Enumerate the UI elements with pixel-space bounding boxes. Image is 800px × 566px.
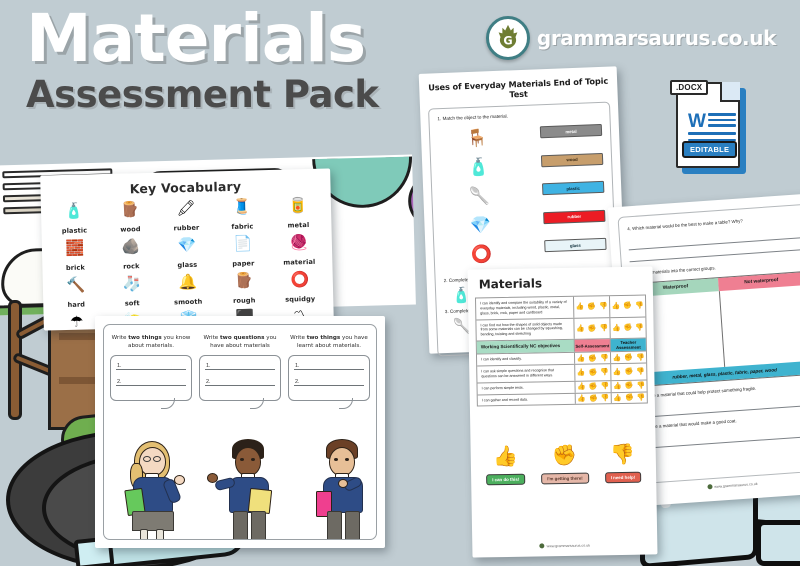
matching-objects-column: 🪑🧴🥄💎⭕: [438, 122, 522, 270]
kwl-answer-line[interactable]: 2.: [294, 379, 364, 386]
vocab-item-label: rubber: [174, 224, 200, 233]
vocab-item-label: soft: [125, 299, 140, 307]
thumbs-down-icon[interactable]: 👎: [637, 394, 646, 402]
assessment-grid-sheet[interactable]: Materials I can identify and compare the…: [468, 266, 658, 557]
key-vocabulary-sheet[interactable]: Key Vocabulary 🧴plastic🪵wood🖍rubber🧵fabr…: [40, 168, 334, 330]
thumbs-up-icon[interactable]: 👍: [577, 395, 586, 403]
objective-text: I can perform simple tests.: [477, 382, 575, 395]
kwl-answer-line[interactable]: 1.: [294, 363, 364, 370]
assess-title: Materials: [479, 275, 646, 292]
vocab-grid: 🧴plastic🪵wood🖍rubber🧵fabric🥫metal🧱brick🪨…: [47, 197, 329, 331]
objective-text: I can identify and classify.: [477, 353, 575, 366]
pupil-boy-right: [314, 439, 377, 539]
kwl-column: Write two things you know about material…: [110, 334, 192, 401]
eraser-icon: 🖍: [159, 199, 213, 217]
vocab-item-label: rough: [233, 296, 256, 305]
page-fold-icon: [720, 82, 740, 102]
glass-shard-icon[interactable]: 💎: [441, 209, 520, 241]
vocab-item: 🧶material: [272, 234, 327, 270]
pupil-illustrations: [104, 434, 376, 539]
material-tag-wood[interactable]: wood: [541, 152, 603, 166]
test-title: Uses of Everyday Materials End of Topic …: [427, 76, 610, 103]
fabric-roll-icon: 🧵: [215, 198, 269, 216]
kwl-answer-line[interactable]: 1.: [116, 363, 186, 370]
material-tag-rubber[interactable]: rubber: [543, 209, 605, 223]
fist-icon[interactable]: ✊: [589, 394, 598, 402]
thumbs-up-icon[interactable]: 👍: [577, 369, 586, 377]
rating-cell-self[interactable]: 👍✊👎: [574, 318, 610, 339]
header-objectives: Working Scientifically NC objectives: [477, 340, 575, 354]
thumbs-down-icon[interactable]: 👎: [636, 367, 645, 375]
thumbs-down-icon[interactable]: 👎: [600, 354, 609, 362]
rating-cell-teacher[interactable]: 👍✊👎: [610, 317, 645, 338]
svg-text:G: G: [503, 35, 512, 48]
thumbs-up-icon[interactable]: 👍: [576, 303, 585, 311]
tyre-icon[interactable]: ⭕: [442, 238, 521, 270]
vocab-item-label: glass: [177, 261, 197, 269]
vocab-item: 🧱brick: [48, 239, 103, 275]
word-letter: W: [688, 112, 706, 131]
rating-cell-teacher[interactable]: 👍✊👎: [611, 380, 646, 391]
tyre-icon: ⭕: [273, 271, 327, 289]
vocab-item-label: material: [283, 258, 315, 267]
poster-canvas: Materials Assessment Pack G grammarsauru…: [0, 0, 800, 566]
thumbs-down-icon[interactable]: 👎: [600, 382, 609, 390]
balloon-art: [407, 171, 415, 231]
kwl-prompt: Write two things you know about material…: [110, 334, 192, 350]
thumbs-up-icon[interactable]: 👍: [612, 324, 621, 332]
docx-extension-label: .DOCX: [670, 80, 708, 95]
bell-icon: 🔔: [161, 273, 215, 291]
vocab-title: Key Vocabulary: [46, 177, 324, 199]
vocab-item: 🪵wood: [103, 201, 158, 237]
materials-pile-icon: 🧶: [272, 234, 326, 252]
plastic-bottle-icon: 🧴: [47, 202, 101, 220]
assessment-key-item: 👍I can do this!: [486, 446, 526, 487]
vocab-item-label: plastic: [62, 226, 88, 235]
rating-cell-self[interactable]: 👍✊👎: [575, 352, 611, 363]
vocab-item: 🧦soft: [105, 275, 160, 311]
fist-icon[interactable]: ✊: [624, 368, 633, 376]
dinosaur-head-icon: G: [486, 16, 530, 60]
header-teacher-assessment: Teacher Assessment: [611, 339, 646, 352]
rating-cell-teacher[interactable]: 👍✊👎: [612, 392, 647, 403]
doc-lines-top: [708, 113, 736, 130]
sandpaper-icon: 🪵: [217, 272, 271, 290]
vocab-item-label: wood: [120, 225, 140, 233]
poster-title-group: Materials Assessment Pack: [26, 6, 379, 113]
editable-label: EDITABLE: [682, 141, 737, 158]
rating-cell-self[interactable]: 👍✊👎: [574, 296, 610, 317]
vocab-item: 🪵rough: [217, 272, 272, 308]
paper-icon: 📄: [216, 235, 270, 253]
thumbs-down-icon: 👎: [604, 444, 641, 467]
kwl-speech-bubble[interactable]: 1.2.: [199, 355, 281, 401]
vocab-item-label: brick: [66, 264, 85, 272]
vocab-item-label: paper: [232, 259, 254, 268]
vocab-item: 🧴plastic: [47, 202, 102, 238]
brand-dot-icon-2: [707, 484, 712, 489]
thumbs-up-icon[interactable]: 👍: [613, 394, 622, 402]
vocab-item-label: rock: [123, 262, 140, 270]
rating-cell-self[interactable]: 👍✊👎: [575, 364, 611, 380]
kwl-columns: Write two things you know about material…: [110, 334, 370, 401]
brick-icon: 🧱: [48, 239, 102, 257]
waterproof-table-body[interactable]: [633, 285, 800, 373]
vocab-item: 💎glass: [160, 236, 215, 272]
plastic-bottle-icon[interactable]: 🧴: [439, 151, 518, 183]
fist-icon[interactable]: ✊: [588, 368, 597, 376]
wood-planks-icon: 🪵: [103, 201, 157, 219]
kwl-prompt: Write two things you have learnt about m…: [288, 334, 370, 350]
thumbs-down-icon[interactable]: 👎: [601, 394, 610, 402]
answer-line-4[interactable]: [642, 425, 800, 449]
hammer-icon: 🔨: [49, 276, 103, 294]
answer-line-3[interactable]: [640, 394, 800, 418]
docx-editable-badge: W EDITABLE .DOCX: [672, 80, 758, 180]
kwl-column: Write two things you have learnt about m…: [288, 334, 370, 401]
kwl-column: Write two questions you have about mater…: [199, 334, 281, 401]
kwl-answer-line[interactable]: 2.: [205, 379, 275, 386]
assessment-key: 👍I can do this!✊I'm getting there!👎I nee…: [478, 444, 650, 487]
vocab-item: 🖍rubber: [159, 199, 214, 235]
tin-can-icon: 🥫: [271, 197, 325, 215]
vocab-item: 🧵fabric: [215, 198, 270, 234]
table-row: I can find out how the shapes of solid o…: [476, 317, 645, 341]
matching-materials-column: metalwoodplasticrubberglass: [540, 119, 608, 269]
thumbs-up-icon: 👍: [486, 446, 525, 469]
vocab-item: 🪨rock: [104, 238, 159, 274]
page-title: Materials: [26, 6, 379, 72]
thumbs-down-icon[interactable]: 👎: [599, 302, 608, 310]
kwl-speech-bubble[interactable]: 1.2.: [288, 355, 370, 401]
rating-cell-teacher[interactable]: 👍✊👎: [611, 352, 646, 363]
brand-logo[interactable]: G grammarsaurus.co.uk: [486, 16, 776, 60]
rating-cell-self[interactable]: 👍✊👎: [576, 393, 612, 404]
thumbs-down-icon[interactable]: 👎: [600, 368, 609, 376]
assess-footer-url: www.grammarsaurus.co.uk: [547, 544, 590, 549]
fist-icon[interactable]: ✊: [624, 353, 633, 361]
vocab-item-label: metal: [287, 221, 309, 230]
fist-icon: ✊: [541, 445, 589, 468]
sock-icon: 🧦: [105, 275, 159, 293]
waterproof-table: Waterproof Not waterproof rubber, metal,…: [631, 271, 800, 387]
thumbs-up-icon[interactable]: 👍: [613, 368, 622, 376]
kwl-prompt: Write two questions you have about mater…: [199, 334, 281, 350]
objective-text: I can ask simple questions and recognise…: [477, 365, 575, 382]
assessment-key-item: ✊I'm getting there!: [541, 445, 589, 486]
objective-text: I can identify and compare the suitabili…: [476, 297, 574, 319]
fist-icon[interactable]: ✊: [625, 394, 634, 402]
thumbs-down-icon[interactable]: 👎: [636, 353, 645, 361]
fist-icon[interactable]: ✊: [589, 383, 598, 391]
vocab-item: 📄paper: [216, 235, 271, 271]
vocab-item: 🔨hard: [49, 276, 104, 312]
pupil-girl: [124, 439, 190, 539]
kwl-body: Write two things you know about material…: [103, 324, 377, 540]
assessment-table[interactable]: I can identify and compare the suitabili…: [475, 295, 648, 407]
vocab-item-label: hard: [67, 301, 85, 309]
vocab-item-label: squidgy: [285, 295, 315, 304]
table-row: I can identify and compare the suitabili…: [476, 296, 645, 320]
objective-text: I can gather and record data.: [478, 393, 576, 406]
kwl-answer-line[interactable]: 2.: [116, 379, 186, 386]
assess-footer: www.grammarsaurus.co.uk: [472, 541, 657, 549]
material-tag-metal[interactable]: metal: [540, 124, 602, 138]
assessment-key-label: I can do this!: [486, 474, 525, 486]
assessment-key-label: I need help!: [605, 472, 642, 484]
page-subtitle: Assessment Pack: [26, 76, 379, 113]
assessment-key-item: 👎I need help!: [604, 444, 641, 485]
fist-icon[interactable]: ✊: [624, 324, 633, 332]
table-icon[interactable]: 🪑: [438, 122, 517, 154]
brand-dot-icon-3: [540, 543, 545, 548]
thumbs-up-icon[interactable]: 👍: [577, 383, 586, 391]
fist-icon[interactable]: ✊: [588, 354, 597, 362]
fist-icon[interactable]: ✊: [588, 324, 597, 332]
kwl-reflection-sheet[interactable]: Write two things you know about material…: [95, 316, 385, 548]
spoon-icon[interactable]: 🥄: [440, 180, 519, 212]
objective-text: I can find out how the shapes of solid o…: [476, 318, 574, 340]
sort-footer-url: www.grammarsaurus.co.uk: [714, 482, 758, 489]
matching-activity[interactable]: 🪑🧴🥄💎⭕ metalwoodplasticrubberglass: [438, 119, 608, 273]
fist-icon[interactable]: ✊: [623, 302, 632, 310]
thumbs-up-icon[interactable]: 👍: [576, 324, 585, 332]
material-tag-plastic[interactable]: plastic: [542, 181, 604, 195]
kwl-answer-line[interactable]: 1.: [205, 363, 275, 370]
thumbs-down-icon[interactable]: 👎: [635, 323, 644, 331]
glass-shard-icon: 💎: [160, 236, 214, 254]
rating-cell-self[interactable]: 👍✊👎: [575, 381, 611, 392]
thumbs-down-icon[interactable]: 👎: [599, 324, 608, 332]
vocab-item-label: smooth: [174, 298, 202, 307]
thumbs-up-icon[interactable]: 👍: [612, 302, 621, 310]
assessment-key-label: I'm getting there!: [541, 473, 589, 485]
thumbs-up-icon[interactable]: 👍: [576, 354, 585, 362]
vocab-item: ⭕squidgy: [273, 271, 328, 307]
table-row: I can gather and record data.👍✊👎👍✊👎: [478, 392, 647, 406]
header-self-assessment: Self-Assessment: [575, 339, 611, 352]
brand-name: grammarsaurus.co.uk: [537, 26, 776, 50]
fist-icon[interactable]: ✊: [625, 382, 634, 390]
kwl-speech-bubble[interactable]: 1.2.: [110, 355, 192, 401]
thumbs-up-icon[interactable]: 👍: [612, 354, 621, 362]
pupil-boy-centre: [219, 439, 289, 539]
rating-cell-teacher[interactable]: 👍✊👎: [610, 296, 645, 317]
rock-icon: 🪨: [104, 238, 158, 256]
fist-icon[interactable]: ✊: [587, 303, 596, 311]
thumbs-down-icon[interactable]: 👎: [635, 302, 644, 310]
thumbs-up-icon[interactable]: 👍: [613, 382, 622, 390]
vocab-item: 🥫metal: [271, 197, 326, 233]
vocab-item-label: fabric: [231, 222, 253, 231]
vocab-item: 🔔smooth: [161, 273, 216, 309]
rating-cell-teacher[interactable]: 👍✊👎: [611, 364, 646, 380]
material-tag-glass[interactable]: glass: [544, 238, 606, 252]
thumbs-down-icon[interactable]: 👎: [636, 382, 645, 390]
